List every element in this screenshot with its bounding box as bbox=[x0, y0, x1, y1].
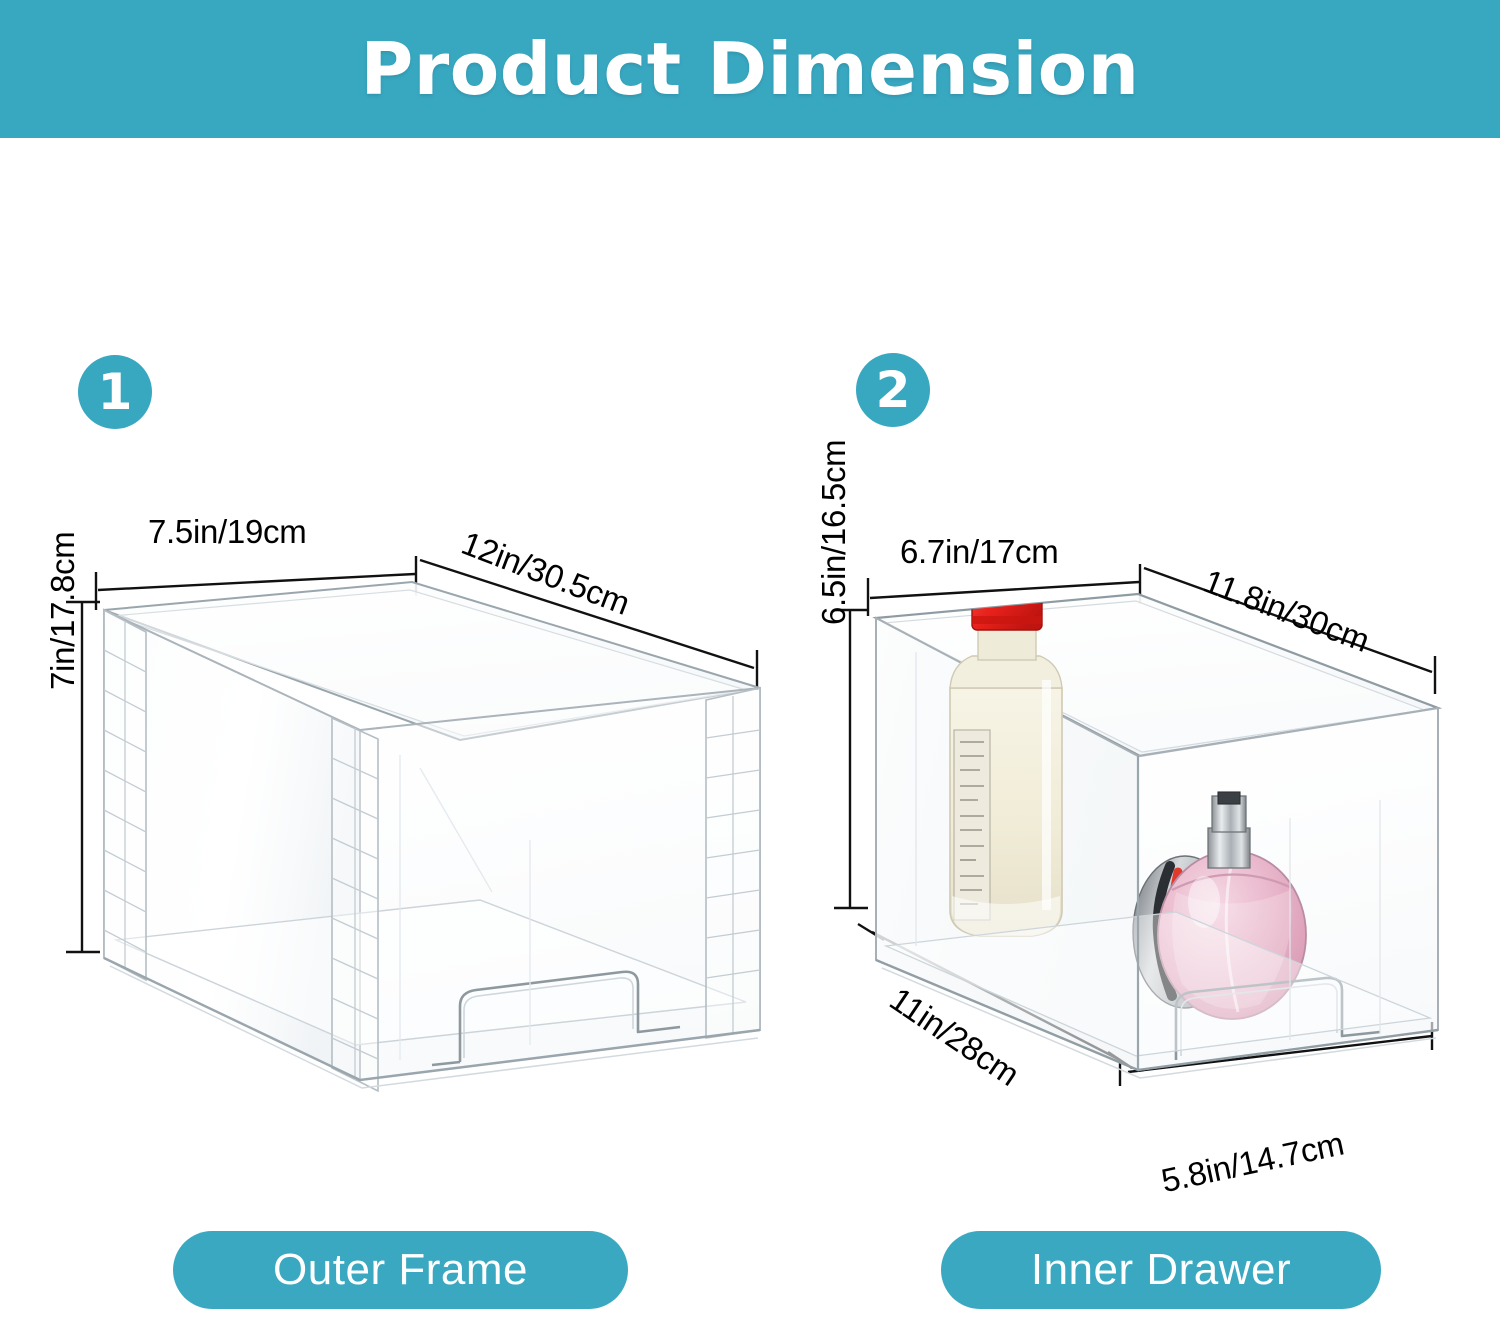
step-badge-1: 1 bbox=[78, 355, 152, 429]
caption-outer-frame: Outer Frame bbox=[173, 1231, 628, 1309]
lotion-bottle-label bbox=[954, 730, 990, 920]
lotion-bottle-highlight bbox=[1042, 680, 1051, 910]
outer-frame-drawing bbox=[60, 540, 820, 1200]
perfume-bottle-nozzle bbox=[1218, 792, 1240, 804]
page-title: Product Dimension bbox=[360, 33, 1139, 105]
inner-drawer-drawing bbox=[820, 560, 1500, 1220]
outer-frame-illustration bbox=[60, 540, 800, 1180]
product-dimension-infographic: Product Dimension 1 2 bbox=[0, 0, 1500, 1324]
step-badge-2: 2 bbox=[856, 353, 930, 427]
lotion-bottle-cap-ring bbox=[972, 616, 1042, 624]
step-badge-1-label: 1 bbox=[98, 367, 133, 417]
inner-drawer-illustration bbox=[820, 560, 1480, 1200]
outer-frame-height-label: 7in/17.8cm bbox=[44, 532, 82, 690]
inner-drawer-height-label: 6.5in/16.5cm bbox=[815, 440, 853, 625]
outer-frame-width-label: 7.5in/19cm bbox=[148, 513, 306, 551]
lotion-bottle-neck bbox=[978, 626, 1036, 660]
caption-outer-frame-label: Outer Frame bbox=[273, 1245, 528, 1295]
frame-corner-rail bbox=[332, 718, 378, 1091]
caption-inner-drawer-label: Inner Drawer bbox=[1031, 1245, 1291, 1295]
caption-inner-drawer: Inner Drawer bbox=[941, 1231, 1381, 1309]
header-banner: Product Dimension bbox=[0, 0, 1500, 138]
frame-left-rail bbox=[104, 610, 146, 980]
step-badge-2-label: 2 bbox=[876, 365, 911, 415]
frame-right-rail bbox=[706, 688, 760, 1038]
perfume-bottle-neck bbox=[1208, 828, 1250, 868]
inner-drawer-width-label: 6.7in/17cm bbox=[900, 533, 1058, 571]
